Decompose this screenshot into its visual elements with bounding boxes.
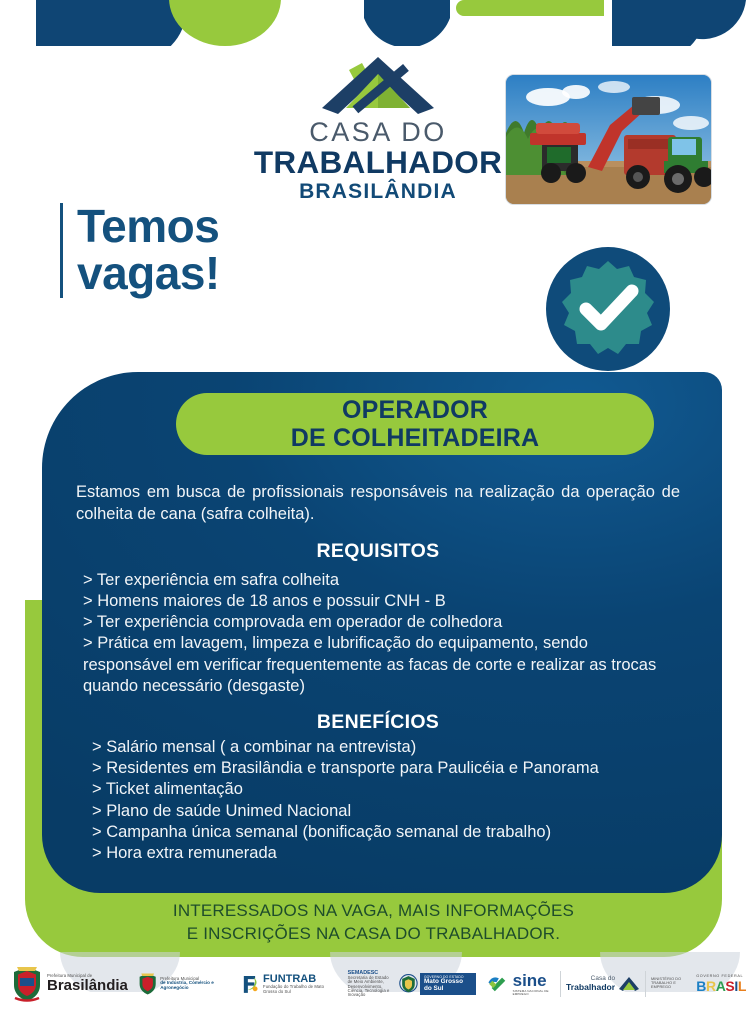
job-intro-text: Estamos em busca de profissionais respon… xyxy=(76,482,680,526)
footer-logo-small-text: SISTEMA NACIONAL DE EMPREGO xyxy=(513,990,556,996)
verified-check-badge-icon xyxy=(546,247,670,371)
list-item: > Salário mensal ( a combinar na entrevi… xyxy=(92,737,680,758)
job-title-pill: OPERADOR DE COLHEITADEIRA xyxy=(176,393,654,455)
harvester-photo-illustration xyxy=(506,75,711,204)
logo-line-casa-do: CASA DO xyxy=(252,118,504,146)
requisitos-heading: REQUISITOS xyxy=(76,540,680,563)
list-item: > Ter experiência comprovada em operador… xyxy=(83,612,680,633)
headline-accent-bar xyxy=(60,203,63,298)
casa-do-trabalhador-footer-icon xyxy=(618,976,640,992)
cta-line-2: E INSCRIÇÕES NA CASA DO TRABALHADOR. xyxy=(25,923,722,946)
logo-line-brasilandia: BRASILÂNDIA xyxy=(252,180,504,203)
footer-divider xyxy=(645,971,646,997)
footer-logo-big-text: BRASIL xyxy=(696,979,746,993)
verified-check-badge xyxy=(546,247,670,371)
footer-logo-ministerio-trabalho: MINISTÉRIO DO TRABALHO E EMPREGO xyxy=(651,962,688,1006)
list-item: > Plano de saúde Unimed Nacional xyxy=(92,801,680,822)
governo-mato-grosso-do-sul-icon xyxy=(399,970,418,998)
headline-line-1: Temos xyxy=(77,203,220,250)
call-to-action: INTERESSADOS NA VAGA, MAIS INFORMAÇÕES E… xyxy=(25,900,722,945)
list-item: > Ter experiência em safra colheita xyxy=(83,570,680,591)
job-details-body: Estamos em busca de profissionais respon… xyxy=(76,482,680,864)
list-item: > Residentes em Brasilândia e transporte… xyxy=(92,758,680,779)
footer-logo-big-text: Brasilândia xyxy=(47,978,128,993)
footer-logo-small-text: Fundação do Trabalho de Mato Grosso do S… xyxy=(263,985,336,994)
funtrab-icon xyxy=(239,970,260,998)
list-item: > Hora extra remunerada xyxy=(92,843,680,864)
headline-line-2: vagas! xyxy=(77,250,220,297)
footer-logo-big-text: Trabalhador xyxy=(566,983,615,992)
sugarcane-harvester-photo xyxy=(505,74,712,205)
sine-icon xyxy=(486,971,510,997)
brand-logo: CASA DO TRABALHADOR BRASILÂNDIA xyxy=(252,52,504,204)
footer-partner-logos: Prefeitura Municipal de Brasilândia Pref… xyxy=(0,960,746,1008)
footer-logo-big-text: de Indústria, Comércio e Agronegócio xyxy=(160,981,227,990)
casa-do-trabalhador-roof-mark-icon xyxy=(252,52,504,114)
footer-logo-big-text: Mato Grosso do Sul xyxy=(424,979,472,992)
footer-logo-big-text: sine xyxy=(513,972,556,989)
headline-temos-vagas: Temos vagas! xyxy=(60,203,220,298)
footer-logo-governo-ms: GOVERNO DO ESTADO Mato Grosso do Sul xyxy=(399,962,475,1006)
logo-line-trabalhador: TRABALHADOR xyxy=(252,146,504,179)
brasilandia-coat-of-arms-icon xyxy=(10,965,44,1003)
footer-logo-semadesc: SEMADESC Secretaria de Estado de Meio Am… xyxy=(348,962,393,1006)
footer-logo-funtrab: FUNTRAB Fundação do Trabalho de Mato Gro… xyxy=(239,962,336,1006)
list-item: > Ticket alimentação xyxy=(92,779,680,800)
cta-line-1: INTERESSADOS NA VAGA, MAIS INFORMAÇÕES xyxy=(25,900,722,923)
job-title-line-1: OPERADOR xyxy=(291,396,540,424)
job-vacancy-flyer: CASA DO TRABALHADOR BRASILÂNDIA xyxy=(0,0,746,1024)
footer-logo-small-text: Secretaria de Estado de Meio Ambiente, D… xyxy=(348,976,393,997)
top-decorative-shapes xyxy=(0,0,746,46)
footer-logo-small-text: MINISTÉRIO DO TRABALHO E EMPREGO xyxy=(651,978,688,990)
list-item: > Homens maiores de 18 anos e possuir CN… xyxy=(83,591,680,612)
top-deco-svg xyxy=(0,0,746,46)
requisitos-list: > Ter experiência em safra colheita > Ho… xyxy=(83,570,680,697)
footer-logo-governo-federal: GOVERNO FEDERAL BRASIL xyxy=(696,962,746,1006)
footer-logo-casa-do-trabalhador: Casa do Trabalhador xyxy=(566,962,640,1006)
list-item: > Prática em lavagem, limpeza e lubrific… xyxy=(83,633,680,697)
beneficios-list: > Salário mensal ( a combinar na entrevi… xyxy=(92,737,680,864)
footer-logo-secretaria-municipal: Prefeitura Municipal de Indústria, Comér… xyxy=(138,962,227,1006)
footer-divider xyxy=(560,971,561,997)
footer-logo-brasilandia: Prefeitura Municipal de Brasilândia xyxy=(10,962,128,1006)
beneficios-heading: BENEFÍCIOS xyxy=(76,711,680,734)
footer-logo-sine: sine SISTEMA NACIONAL DE EMPREGO xyxy=(486,962,556,1006)
secretaria-municipal-crest-icon xyxy=(138,970,157,998)
job-title-line-2: DE COLHEITADEIRA xyxy=(291,424,540,452)
list-item: > Campanha única semanal (bonificação se… xyxy=(92,822,680,843)
